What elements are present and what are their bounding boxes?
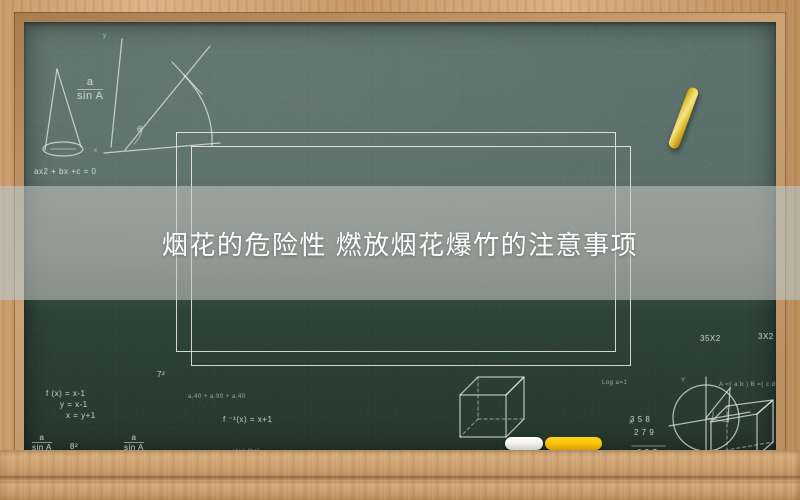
circle-axes-sketch [669,377,750,450]
cube-sketch-1 [460,377,524,437]
tray-lip [0,476,800,481]
white-chalk-icon [505,437,543,450]
yellow-chalk-icon [545,437,602,450]
cone-sketch [43,69,83,156]
chalkboard-banner: a sin A y x θ ax2 + bx +c = 0 f (x) = x-… [0,0,800,500]
chalk-tray [0,450,800,500]
page-title: 烟花的危险性 燃放烟花爆竹的注意事项 [162,225,638,262]
cube-sketch-2 [711,400,773,450]
title-overlay-band: 烟花的危险性 燃放烟花爆竹的注意事项 [0,186,800,300]
